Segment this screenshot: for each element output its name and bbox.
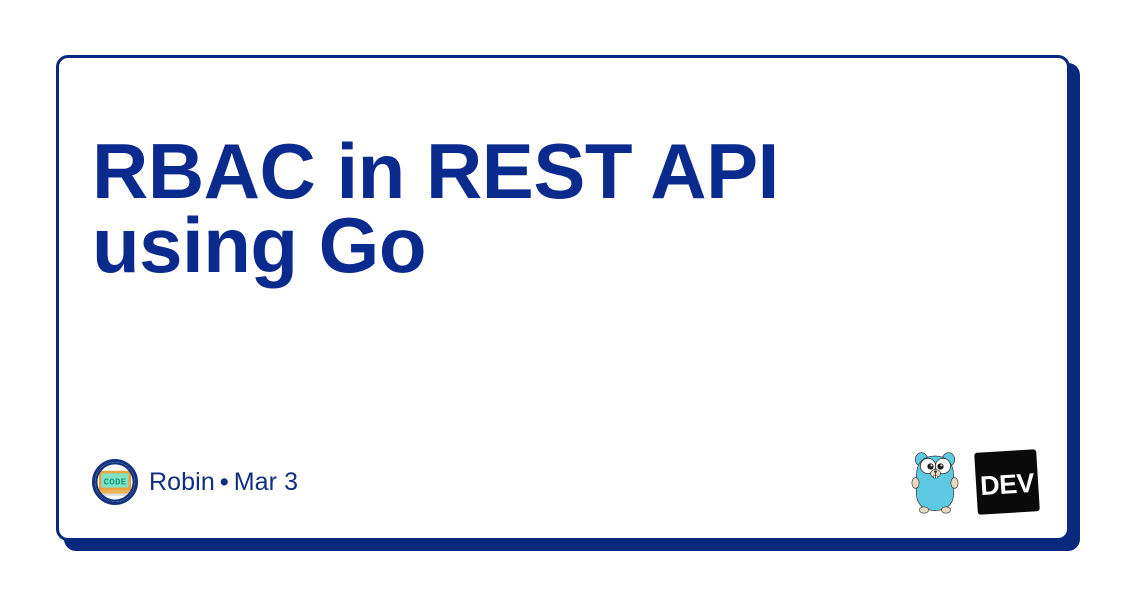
svg-text:DEV: DEV bbox=[979, 468, 1035, 501]
byline-separator: • bbox=[215, 468, 234, 496]
avatar[interactable]: CODE bbox=[92, 459, 138, 505]
author-name: Robin bbox=[149, 468, 215, 496]
author-block[interactable]: CODE Robin•Mar 3 bbox=[92, 459, 298, 505]
title-container: RBAC in REST API using Go bbox=[92, 134, 952, 282]
article-preview-card[interactable]: RBAC in REST API using Go bbox=[56, 55, 1070, 541]
og-card-canvas: RBAC in REST API using Go bbox=[0, 0, 1128, 600]
dev-to-logo-icon: DEV bbox=[973, 448, 1041, 516]
page-title: RBAC in REST API using Go bbox=[92, 134, 952, 282]
byline: Robin•Mar 3 bbox=[149, 468, 298, 497]
svg-text:CODE: CODE bbox=[104, 476, 127, 487]
publish-date: Mar 3 bbox=[234, 468, 298, 496]
go-gopher-icon bbox=[909, 449, 961, 515]
brand-block: DEV bbox=[909, 449, 1039, 515]
card-footer: CODE Robin•Mar 3 bbox=[92, 446, 1039, 518]
